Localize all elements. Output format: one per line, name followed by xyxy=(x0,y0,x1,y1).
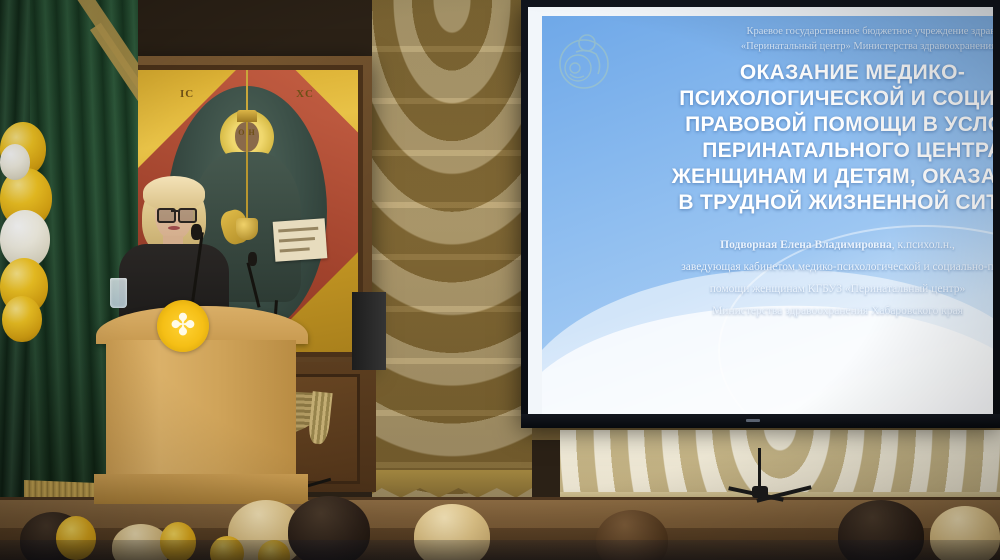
slide-subtitle-line-1: заведующая кабинетом медико-психологичес… xyxy=(552,256,993,278)
foreground-shade xyxy=(0,540,1000,560)
slide-subtitle-line-0: Подворная Елена Владимировна, к.психол.н… xyxy=(552,234,993,256)
microphone-icon xyxy=(248,252,257,266)
slide-subtitle-line-2: помощи женщинам КГБУЗ «Перинатальный цен… xyxy=(552,278,993,300)
screen-indicator xyxy=(746,419,760,422)
stage-loudspeaker xyxy=(352,292,386,370)
slide-subtitle-line-3: Министерства здравоохранения Хабаровског… xyxy=(552,300,993,322)
presentation-photo-scene: IC XC O H xyxy=(0,0,1000,560)
balloon-white xyxy=(0,144,30,180)
screen-surface: Краевое государственное бюджетное учрежд… xyxy=(528,7,993,417)
speaker-podium xyxy=(106,340,296,490)
slide-title-line-3: ПЕРИНАТАЛЬНОГО ЦЕНТРА xyxy=(552,138,993,164)
glasses-right-lens xyxy=(178,208,197,223)
hanging-lamp xyxy=(236,218,258,240)
slide-title-line-2: ПРАВОВОЙ ПОМОЩИ В УСЛОВ xyxy=(552,112,993,138)
microphone-icon xyxy=(191,224,202,240)
lamp-cord xyxy=(246,122,248,220)
water-glass xyxy=(110,278,127,308)
podium-base xyxy=(94,474,308,504)
slide-title: ОКАЗАНИЕ МЕДИКО-ПСИХОЛОГИЧЕСКОЙ И СОЦИАЛ… xyxy=(552,60,993,216)
slide-title-line-4: ЖЕНЩИНАМ И ДЕТЯМ, ОКАЗАВШ xyxy=(552,164,993,190)
lamp-chain xyxy=(246,70,248,114)
screen-bottom-frame xyxy=(521,414,1000,428)
beige-swag-curtain xyxy=(372,0,532,500)
presentation-slide: Краевое государственное бюджетное учрежд… xyxy=(542,16,993,417)
lamp-crown xyxy=(237,110,257,122)
slide-title-line-1: ПСИХОЛОГИЧЕСКОЙ И СОЦИАЛ xyxy=(552,86,993,112)
presenter-name: Подворная Елена Владимировна xyxy=(720,239,892,251)
balloon-gold xyxy=(2,296,42,342)
slide-header: Краевое государственное бюджетное учрежд… xyxy=(654,24,993,54)
speaker-lips xyxy=(168,226,180,230)
glasses-bridge xyxy=(171,210,178,212)
projection-screen: Краевое государственное бюджетное учрежд… xyxy=(521,0,1000,424)
speaker-fringe xyxy=(143,176,205,210)
slide-header-line-1: «Перинатальный центр» Министерства здрав… xyxy=(654,39,993,54)
slide-subtitle: Подворная Елена Владимировна, к.психол.н… xyxy=(552,234,993,322)
slide-title-line-0: ОКАЗАНИЕ МЕДИКО- xyxy=(552,60,993,86)
slide-header-line-0: Краевое государственное бюджетное учрежд… xyxy=(654,24,993,39)
icon-inscription-left: IC xyxy=(180,88,194,100)
emblem-cross-icon: ✤ xyxy=(166,309,200,343)
icon-open-book xyxy=(273,218,328,262)
slide-title-line-5: В ТРУДНОЙ ЖИЗНЕННОЙ СИТУА xyxy=(552,190,993,216)
icon-inscription-right: XC xyxy=(296,88,314,100)
